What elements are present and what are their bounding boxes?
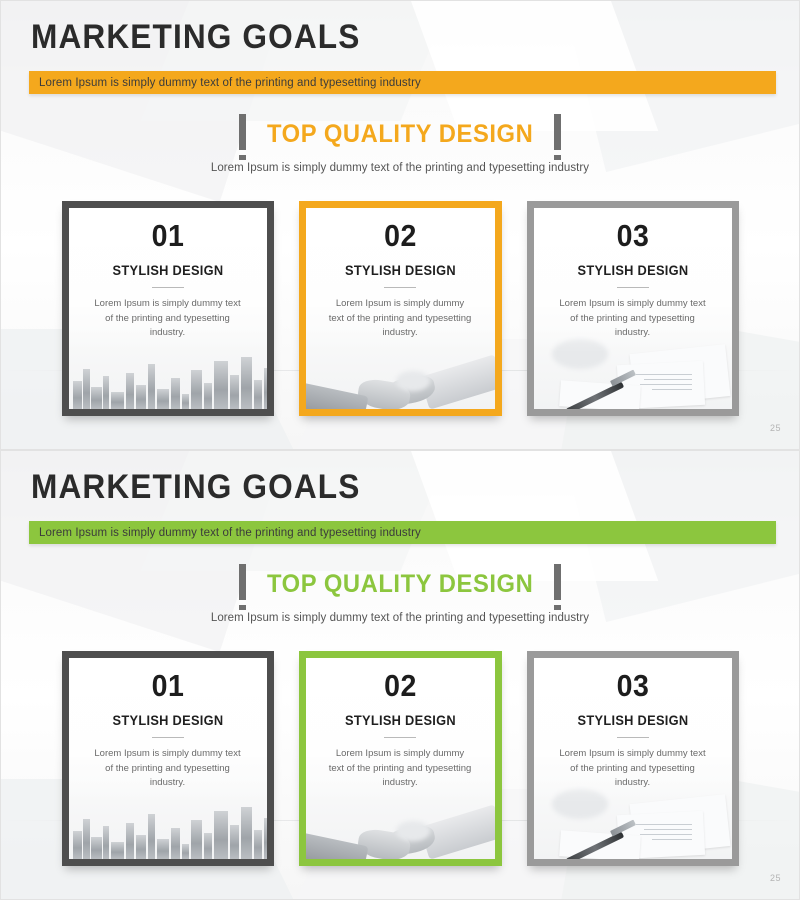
- page-title: MARKETING GOALS: [31, 18, 360, 57]
- card-body: Lorem Ipsum is simply dummy text of the …: [306, 747, 495, 791]
- subtitle-ribbon: Lorem Ipsum is simply dummy text of the …: [29, 521, 776, 544]
- right-bracket-icon: [554, 119, 561, 150]
- pen-documents-photo: [534, 781, 732, 859]
- card-caption: STYLISH DESIGN: [538, 263, 726, 278]
- page-number: 25: [770, 423, 781, 433]
- card-caption: STYLISH DESIGN: [310, 713, 490, 728]
- card-caption: STYLISH DESIGN: [538, 713, 726, 728]
- feature-card-3[interactable]: 03 STYLISH DESIGN Lorem Ipsum is simply …: [527, 201, 739, 416]
- card-divider: [384, 737, 416, 738]
- subtitle-ribbon-text: Lorem Ipsum is simply dummy text of the …: [39, 527, 421, 539]
- slide-1: MARKETING GOALS Lorem Ipsum is simply du…: [0, 0, 800, 450]
- feature-card-2[interactable]: 02 STYLISH DESIGN Lorem Ipsum is simply …: [299, 651, 502, 866]
- card-body: Lorem Ipsum is simply dummy text of the …: [69, 747, 267, 791]
- card-divider: [384, 287, 416, 288]
- handshake-photo: [306, 781, 495, 859]
- card-divider: [617, 737, 649, 738]
- card-caption: STYLISH DESIGN: [310, 263, 490, 278]
- card-row: 01 STYLISH DESIGN Lorem Ipsum is simply …: [1, 201, 799, 416]
- feature-card-1[interactable]: 01 STYLISH DESIGN Lorem Ipsum is simply …: [62, 201, 274, 416]
- page-title: MARKETING GOALS: [31, 468, 360, 507]
- section-title: TOP QUALITY DESIGN: [267, 120, 533, 149]
- left-bracket-icon: [239, 119, 246, 150]
- card-divider: [152, 737, 184, 738]
- right-bracket-icon: [554, 569, 561, 600]
- left-bracket-icon: [239, 569, 246, 600]
- city-skyline-photo: [69, 331, 267, 409]
- section-subtitle: Lorem Ipsum is simply dummy text of the …: [1, 612, 799, 624]
- feature-card-1[interactable]: 01 STYLISH DESIGN Lorem Ipsum is simply …: [62, 651, 274, 866]
- card-wrapper-3: 03 STYLISH DESIGN Lorem Ipsum is simply …: [527, 651, 739, 866]
- feature-card-2[interactable]: 02 STYLISH DESIGN Lorem Ipsum is simply …: [299, 201, 502, 416]
- card-number: 01: [76, 220, 258, 251]
- card-wrapper-1: 01 STYLISH DESIGN Lorem Ipsum is simply …: [62, 201, 274, 416]
- card-caption: STYLISH DESIGN: [73, 713, 261, 728]
- card-divider: [617, 287, 649, 288]
- card-wrapper-2: 02 STYLISH DESIGN Lorem Ipsum is simply …: [299, 651, 502, 866]
- card-number: 02: [313, 220, 487, 251]
- card-wrapper-2: 02 STYLISH DESIGN Lorem Ipsum is simply …: [299, 201, 502, 416]
- page-number: 25: [770, 873, 781, 883]
- card-number: 03: [541, 220, 723, 251]
- section-subtitle: Lorem Ipsum is simply dummy text of the …: [1, 162, 799, 174]
- feature-card-3[interactable]: 03 STYLISH DESIGN Lorem Ipsum is simply …: [527, 651, 739, 866]
- section-heading: TOP QUALITY DESIGN Lorem Ipsum is simply…: [1, 119, 799, 174]
- card-number: 01: [76, 670, 258, 701]
- slide-deck: MARKETING GOALS Lorem Ipsum is simply du…: [0, 0, 800, 900]
- subtitle-ribbon-text: Lorem Ipsum is simply dummy text of the …: [39, 77, 421, 89]
- card-body: Lorem Ipsum is simply dummy text of the …: [534, 297, 732, 341]
- card-number: 02: [313, 670, 487, 701]
- card-body: Lorem Ipsum is simply dummy text of the …: [69, 297, 267, 341]
- card-wrapper-3: 03 STYLISH DESIGN Lorem Ipsum is simply …: [527, 201, 739, 416]
- card-wrapper-1: 01 STYLISH DESIGN Lorem Ipsum is simply …: [62, 651, 274, 866]
- card-body: Lorem Ipsum is simply dummy text of the …: [534, 747, 732, 791]
- city-skyline-photo: [69, 781, 267, 859]
- subtitle-ribbon: Lorem Ipsum is simply dummy text of the …: [29, 71, 776, 94]
- card-caption: STYLISH DESIGN: [73, 263, 261, 278]
- slide-2: MARKETING GOALS Lorem Ipsum is simply du…: [0, 450, 800, 900]
- section-heading: TOP QUALITY DESIGN Lorem Ipsum is simply…: [1, 569, 799, 624]
- card-divider: [152, 287, 184, 288]
- handshake-photo: [306, 331, 495, 409]
- card-row: 01 STYLISH DESIGN Lorem Ipsum is simply …: [1, 651, 799, 866]
- card-number: 03: [541, 670, 723, 701]
- card-body: Lorem Ipsum is simply dummy text of the …: [306, 297, 495, 341]
- pen-documents-photo: [534, 331, 732, 409]
- section-title: TOP QUALITY DESIGN: [267, 570, 533, 599]
